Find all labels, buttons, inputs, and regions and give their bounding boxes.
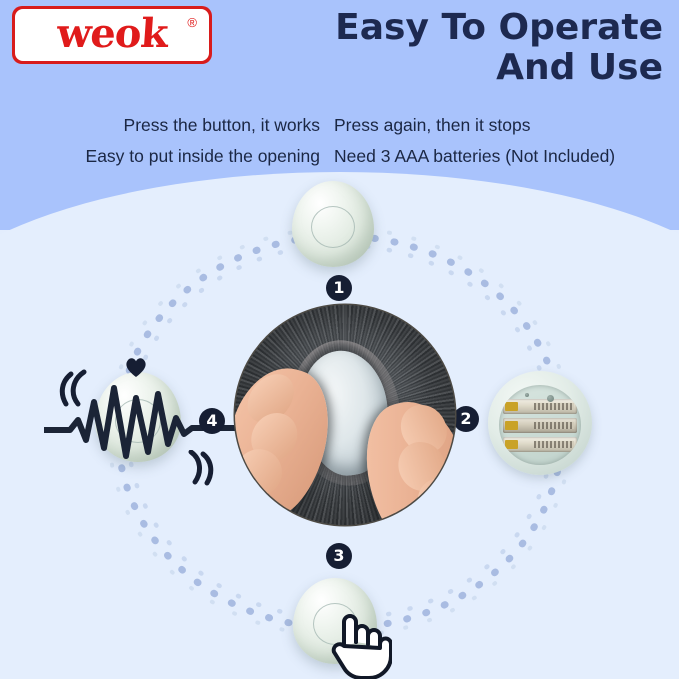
registered-trademark-icon: ® bbox=[187, 15, 197, 30]
step-badge-2: 2 bbox=[453, 406, 479, 432]
vibration-waves-left-icon bbox=[58, 368, 92, 408]
page-title: Easy To Operate And Use bbox=[263, 8, 663, 89]
battery-bay bbox=[499, 385, 581, 465]
infographic-canvas: weok ® Easy To Operate And Use Press the… bbox=[0, 0, 679, 679]
hand-pointer-icon bbox=[330, 608, 392, 679]
aaa-battery-3 bbox=[503, 437, 577, 452]
step-2-battery-compartment bbox=[488, 371, 592, 475]
vibration-waves-right-icon bbox=[185, 450, 215, 486]
brand-logo-inner: weok ® bbox=[15, 9, 209, 61]
step-badge-4: 4 bbox=[199, 408, 225, 434]
feature-column-left: Press the button, it works Easy to put i… bbox=[30, 110, 320, 172]
heart-icon bbox=[124, 356, 148, 378]
feature-text-left-2: Easy to put inside the opening bbox=[30, 141, 320, 172]
feature-text-block: Press the button, it works Easy to put i… bbox=[0, 110, 679, 166]
step-badge-3: 3 bbox=[326, 543, 352, 569]
brand-logo-text: weok bbox=[55, 14, 168, 54]
feature-text-right-1: Press again, then it stops bbox=[334, 110, 679, 141]
feature-column-right: Press again, then it stops Need 3 AAA ba… bbox=[334, 110, 679, 172]
aaa-battery-1 bbox=[503, 399, 577, 414]
page-title-line-2: And Use bbox=[263, 48, 663, 88]
feature-text-right-2: Need 3 AAA batteries (Not Included) bbox=[334, 141, 679, 172]
brand-logo: weok ® bbox=[12, 6, 212, 64]
feature-text-left-1: Press the button, it works bbox=[30, 110, 320, 141]
aaa-battery-2 bbox=[503, 418, 577, 433]
device-button-outline[interactable] bbox=[311, 206, 355, 248]
step-badge-1: 1 bbox=[326, 275, 352, 301]
step-1-device bbox=[292, 181, 374, 267]
hands-inserting-device-photo bbox=[235, 305, 455, 525]
screw-icon-2 bbox=[525, 393, 529, 397]
screw-icon-1 bbox=[547, 395, 554, 402]
page-title-line-1: Easy To Operate bbox=[335, 7, 663, 48]
